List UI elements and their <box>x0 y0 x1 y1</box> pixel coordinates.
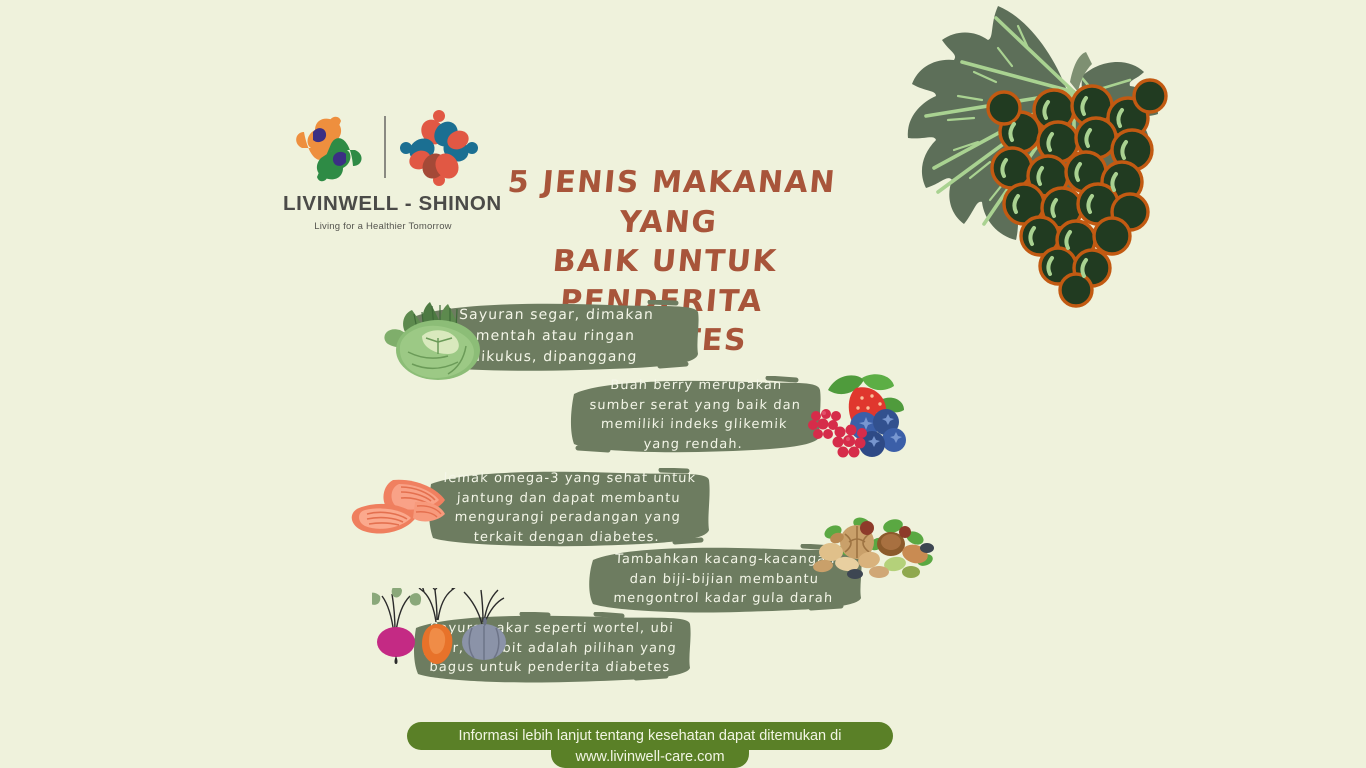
logo-wordmark: LIVINWELL - SHINON <box>283 192 483 216</box>
tip-berries-text: Buah berry merupakan sumber serat yang b… <box>573 376 817 454</box>
grapes-illustration <box>878 0 1178 308</box>
pinwheel-ribbon-mark-icon <box>291 110 373 186</box>
footer-url[interactable]: www.livinwell-care.com <box>407 747 893 768</box>
cabbage-illustration <box>378 296 494 382</box>
tip-omega3: lemak omega-3 yang sehat untuk jantung d… <box>345 466 715 552</box>
infographic-canvas: LIVINWELL - SHINON Living for a Healthie… <box>0 0 1366 768</box>
footer-text: Informasi lebih lanjut tentang kesehatan… <box>407 722 893 768</box>
tip-vegetables: Sayuran segar, dimakan mentah atau ringa… <box>378 296 708 382</box>
mixed-nuts-illustration <box>807 498 935 584</box>
brand-logo: LIVINWELL - SHINON Living for a Healthie… <box>283 108 483 238</box>
tip-nuts-seeds: Tambahkan kacang-kacangan dan biji-bijia… <box>585 538 935 618</box>
tip-omega3-text: lemak omega-3 yang sehat untuk jantung d… <box>426 469 711 547</box>
footer-banner: Informasi lebih lanjut tentang kesehatan… <box>0 722 1366 768</box>
logo-tagline: Living for a Healthier Tomorrow <box>283 221 483 232</box>
brush-stroke-2: Buah berry merupakan sumber serat yang b… <box>568 376 822 454</box>
footer-line-1: Informasi lebih lanjut tentang kesehatan… <box>459 728 842 744</box>
logo-divider <box>384 116 386 178</box>
salmon-illustration <box>345 474 457 544</box>
tip-berries: Buah berry merupakan sumber serat yang b… <box>568 372 908 464</box>
brush-stroke-3: lemak omega-3 yang sehat untuk jantung d… <box>425 468 711 548</box>
root-vegetables-illustration <box>372 588 518 664</box>
title-line-1: 5 JENIS MAKANAN YANG <box>457 163 884 242</box>
berries-illustration <box>798 364 908 462</box>
logo-marks <box>283 108 483 186</box>
